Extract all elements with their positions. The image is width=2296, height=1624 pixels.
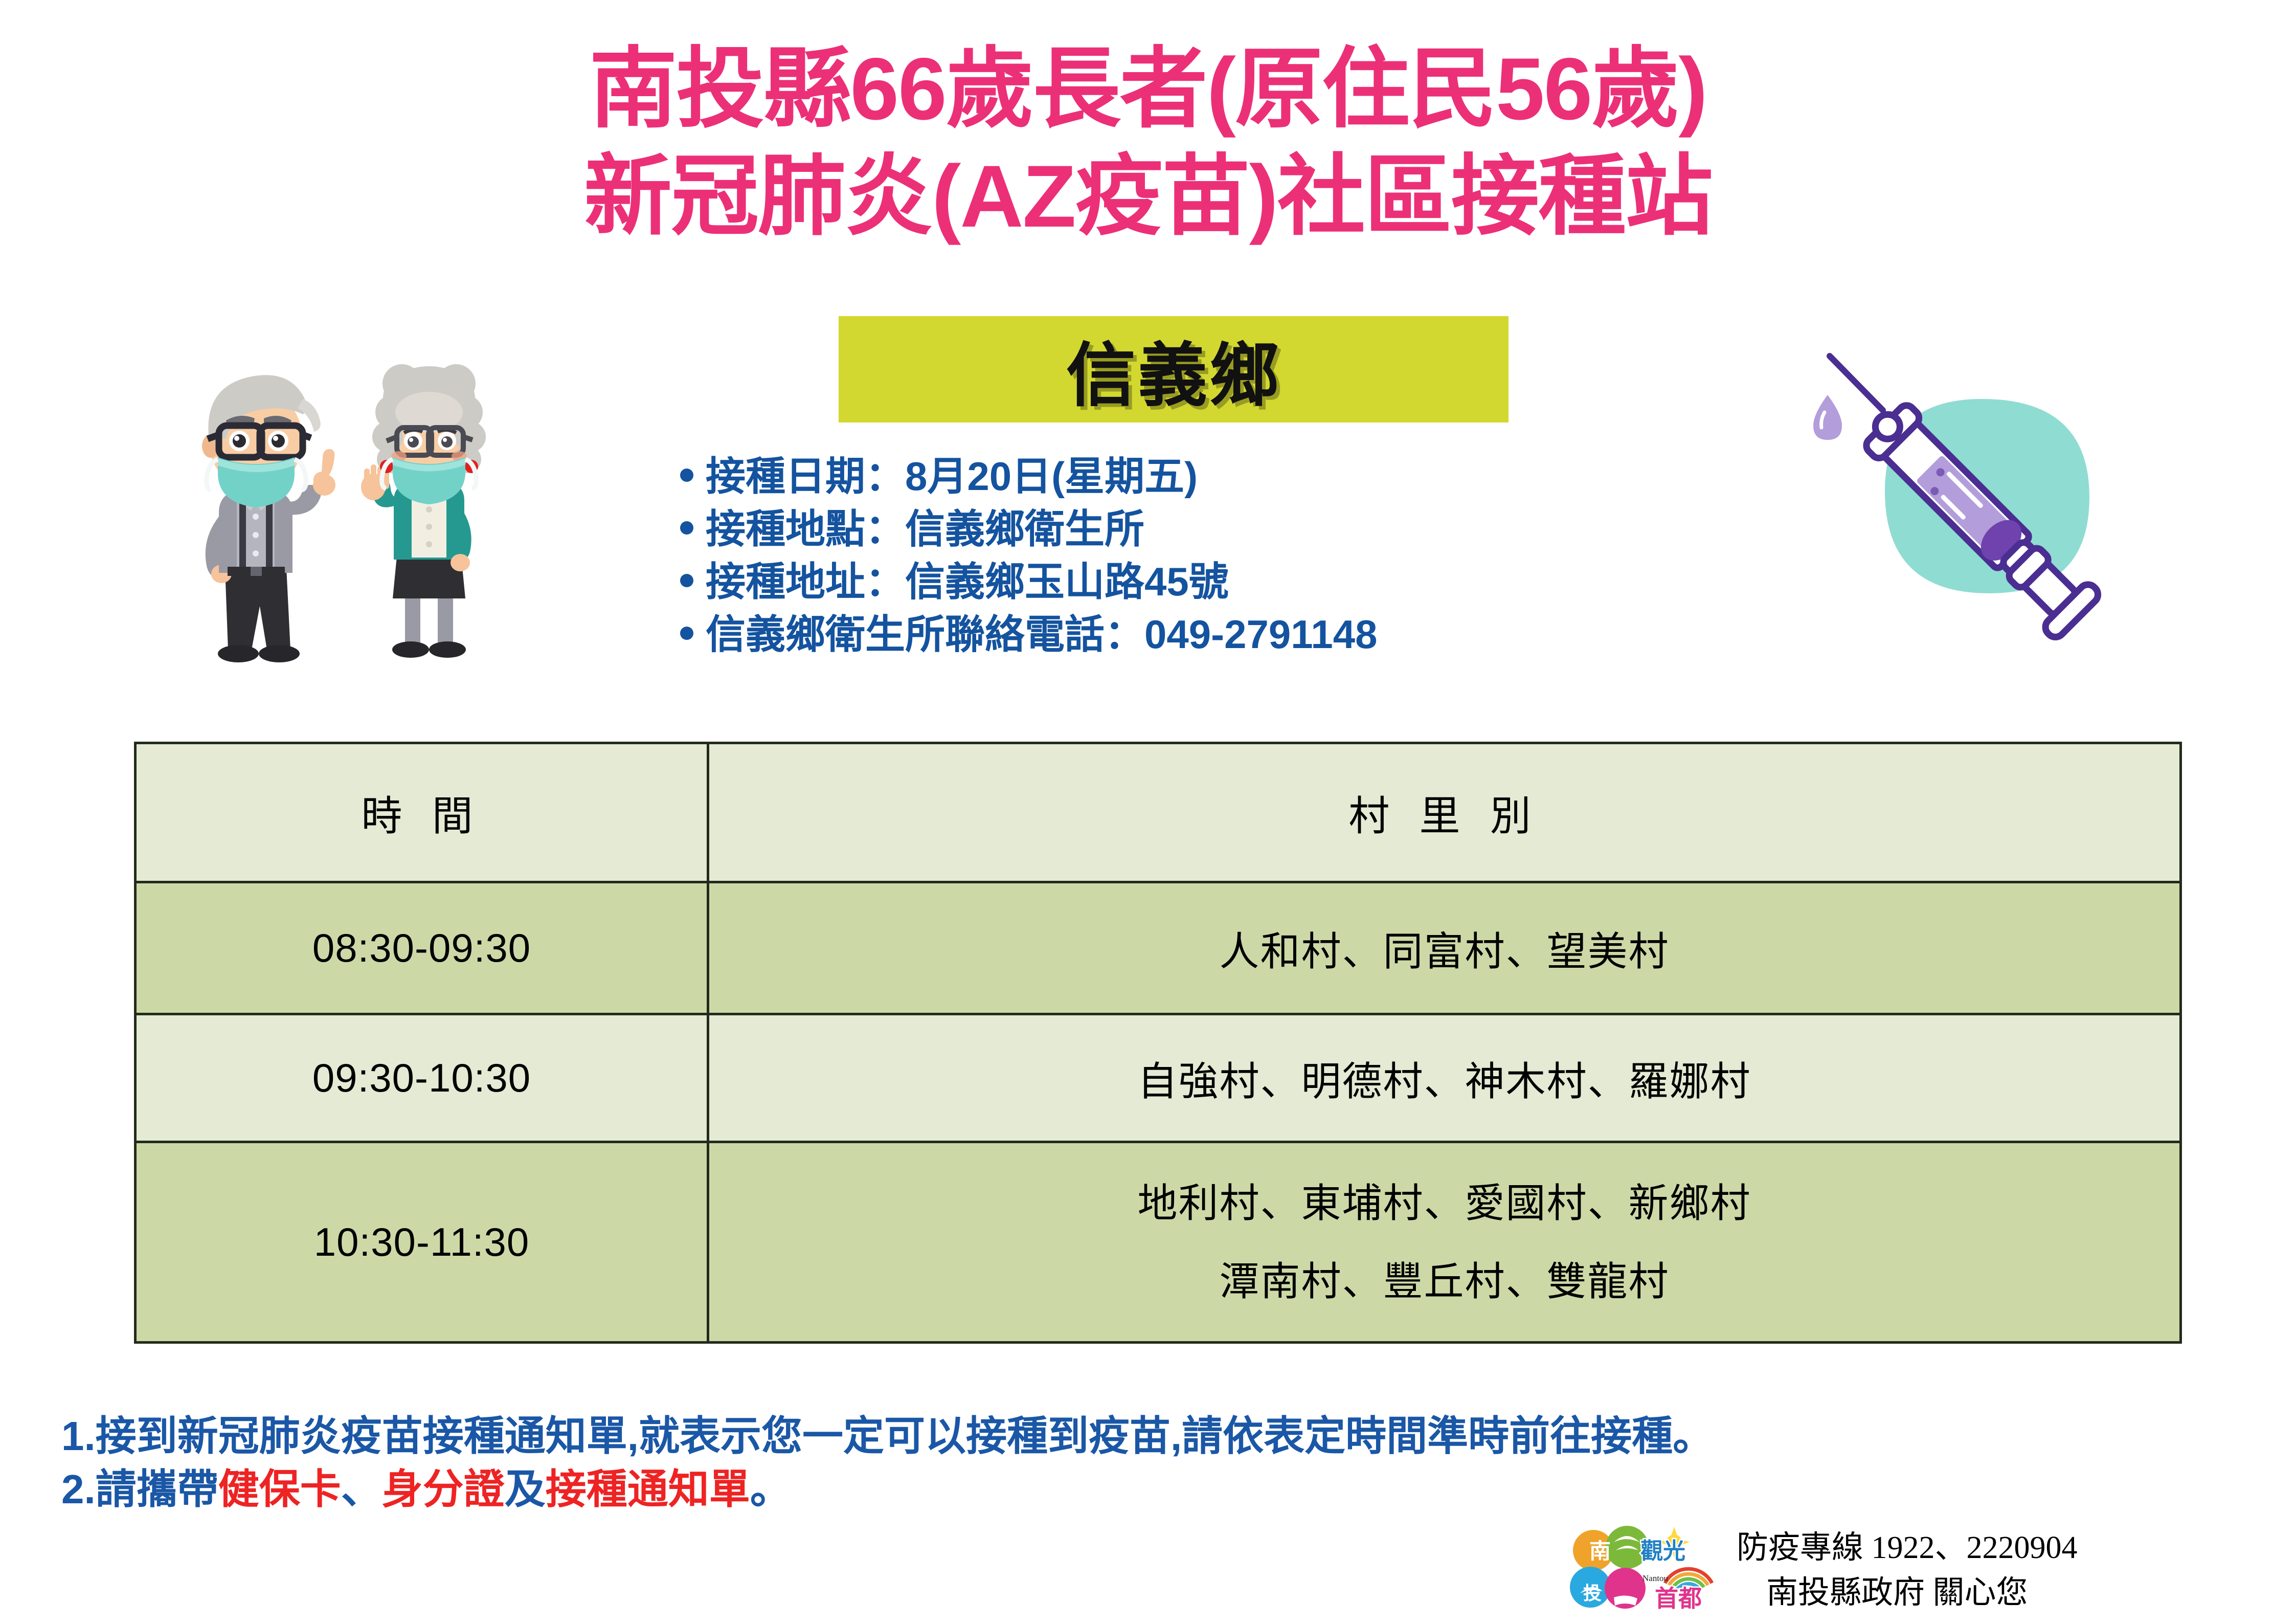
info-phone-text: 信義鄉衛生所聯絡電話：049-2791148 xyxy=(706,608,1377,661)
svg-text:南: 南 xyxy=(1589,1540,1611,1564)
note-2-prefix: 2.請攜帶 xyxy=(61,1466,218,1512)
note-2-item-id-card: 身分證 xyxy=(382,1466,505,1512)
elderly-couple-illustration xyxy=(153,312,511,670)
row-villages-line-2: 潭南村、豐丘村、雙龍村 xyxy=(709,1242,2179,1320)
info-date-text: 接種日期：8月20日(星期五) xyxy=(706,450,1198,503)
note-2-item-health-card: 健保卡 xyxy=(218,1466,341,1512)
note-2-item-notice: 接種通知單 xyxy=(546,1466,750,1512)
poster-title: 南投縣66歲長者(原住民56歲) 新冠肺炎(AZ疫苗)社區接種站 xyxy=(0,36,2296,251)
note-2-conjunction: 及 xyxy=(505,1466,546,1512)
table-row: 10:30-11:30 地利村、東埔村、愛國村、新鄉村 潭南村、豐丘村、雙龍村 xyxy=(136,1142,2181,1343)
note-2-period: 。 xyxy=(750,1466,791,1512)
header-time: 時 間 xyxy=(136,743,708,882)
table-header-row: 時 間 村 里 別 xyxy=(136,743,2181,882)
info-item-phone: 信義鄉衛生所聯絡電話：049-2791148 xyxy=(680,608,1907,661)
row-villages: 地利村、東埔村、愛國村、新鄉村 潭南村、豐丘村、雙龍村 xyxy=(708,1142,2181,1343)
svg-text:投: 投 xyxy=(1583,1583,1602,1604)
info-address-text: 接種地址：信義鄉玉山路45號 xyxy=(706,555,1229,608)
footer: 南 投 觀光 Nantou xyxy=(1565,1522,2078,1619)
logo-romanized: Nantou xyxy=(1642,1573,1669,1583)
header-village: 村 里 別 xyxy=(708,743,2181,882)
logo-chinese-top: 觀光 xyxy=(1640,1539,1685,1564)
vaccination-info-list: 接種日期：8月20日(星期五) 接種地點：信義鄉衛生所 接種地址：信義鄉玉山路4… xyxy=(680,450,1907,661)
row-villages: 自強村、明德村、神木村、羅娜村 xyxy=(708,1014,2181,1142)
bullet-icon xyxy=(680,574,693,587)
schedule-table: 時 間 村 里 別 08:30-09:30 人和村、同富村、望美村 09:30-… xyxy=(134,742,2182,1344)
footer-hotline: 防疫專線 1922、2220904 xyxy=(1737,1525,2078,1570)
footer-authority: 南投縣政府 關心您 xyxy=(1737,1570,2078,1615)
nantou-tourism-capital-logo: 南 投 觀光 Nantou xyxy=(1565,1522,1718,1619)
bullet-icon xyxy=(680,469,693,482)
row-villages: 人和村、同富村、望美村 xyxy=(708,882,2181,1014)
notes-section: 1.接到新冠肺炎疫苗接種通知單,就表示您一定可以接種到疫苗,請依表定時間準時前往… xyxy=(61,1410,2260,1516)
township-name: 信義鄉 xyxy=(1066,319,1281,420)
info-item-address: 接種地址：信義鄉玉山路45號 xyxy=(680,555,1907,608)
footer-text-block: 防疫專線 1922、2220904 南投縣政府 關心您 xyxy=(1737,1525,2078,1615)
row-time: 09:30-10:30 xyxy=(136,1014,708,1142)
bullet-icon xyxy=(680,627,693,640)
township-banner: 信義鄉 xyxy=(839,316,1509,422)
table-row: 09:30-10:30 自強村、明德村、神木村、羅娜村 xyxy=(136,1014,2181,1142)
logo-chinese-bottom: 首都 xyxy=(1655,1586,1702,1612)
row-time: 10:30-11:30 xyxy=(136,1142,708,1343)
info-location-text: 接種地點：信義鄉衛生所 xyxy=(706,503,1144,555)
vaccination-poster: 南投縣66歲長者(原住民56歲) 新冠肺炎(AZ疫苗)社區接種站 xyxy=(0,0,2296,1624)
note-2: 2.請攜帶健保卡、身分證及接種通知單。 xyxy=(61,1463,2260,1516)
title-line-2: 新冠肺炎(AZ疫苗)社區接種站 xyxy=(0,143,2296,251)
bullet-icon xyxy=(680,521,693,535)
title-line-1: 南投縣66歲長者(原住民56歲) xyxy=(0,36,2296,143)
row-villages-line-1: 地利村、東埔村、愛國村、新鄉村 xyxy=(709,1164,2179,1242)
table-row: 08:30-09:30 人和村、同富村、望美村 xyxy=(136,882,2181,1014)
info-item-location: 接種地點：信義鄉衛生所 xyxy=(680,503,1907,555)
info-item-date: 接種日期：8月20日(星期五) xyxy=(680,450,1907,503)
note-1: 1.接到新冠肺炎疫苗接種通知單,就表示您一定可以接種到疫苗,請依表定時間準時前往… xyxy=(61,1410,2260,1463)
row-time: 08:30-09:30 xyxy=(136,882,708,1014)
note-2-separator: 、 xyxy=(341,1466,382,1512)
